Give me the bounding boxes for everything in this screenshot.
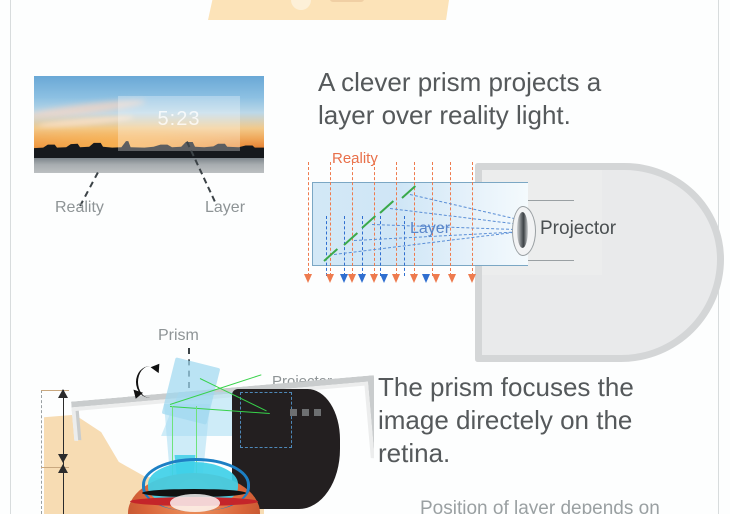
reality-ray xyxy=(432,162,433,276)
projector-bracket-top xyxy=(528,200,574,201)
reality-arrow xyxy=(448,274,456,283)
layer-label: Layer xyxy=(410,220,450,238)
layer-arrow xyxy=(380,274,388,283)
eye-lens xyxy=(170,494,220,512)
reality-arrow xyxy=(304,274,312,283)
caption-reality: Reality xyxy=(55,199,104,217)
reality-arrow xyxy=(432,274,440,283)
measure-baseline xyxy=(41,390,42,514)
skyline-photo: 5:23 xyxy=(34,76,264,173)
reality-arrow xyxy=(326,274,334,283)
banner-chip-icon xyxy=(330,0,364,2)
headline-secondary: The prism focuses the image directely on… xyxy=(378,371,708,470)
caption-layer: Layer xyxy=(205,199,245,217)
reality-arrow xyxy=(370,274,378,283)
reality-ray xyxy=(450,162,451,276)
reality-label: Reality xyxy=(332,150,378,167)
reality-ray xyxy=(414,162,415,276)
layer-arrow xyxy=(358,274,366,283)
infographic-page: 5:23 Reality Layer A clever prism projec… xyxy=(0,0,730,514)
measure-arrow-up xyxy=(58,389,68,398)
measure-arrow-up-2 xyxy=(58,464,68,473)
measure-arrow-down xyxy=(58,454,68,463)
reality-arrow xyxy=(468,274,476,283)
left-border-rule xyxy=(10,0,11,514)
reality-ray xyxy=(396,162,397,276)
reality-arrow xyxy=(392,274,400,283)
water-band xyxy=(34,158,264,173)
projector-aperture-icon xyxy=(517,212,528,248)
layer-ray xyxy=(326,216,327,276)
reality-ray xyxy=(374,162,375,276)
reality-arrow xyxy=(410,274,418,283)
reality-ray xyxy=(330,162,331,276)
top-tan-banner xyxy=(208,0,456,20)
reality-ray xyxy=(352,162,353,276)
ar-layer-clock: 5:23 xyxy=(118,108,240,131)
layer-arrow xyxy=(340,274,348,283)
layer-arrow xyxy=(422,274,430,283)
projector-chips-icon xyxy=(290,409,326,416)
headline-primary: A clever prism projects a layer over rea… xyxy=(318,66,648,132)
eye-cross-section xyxy=(14,330,374,514)
projector-bracket-bottom xyxy=(528,260,574,261)
cut-off-subtext: Position of layer depends on xyxy=(420,498,720,514)
measure-line xyxy=(63,390,64,514)
projector-label: Projector xyxy=(540,218,616,240)
prism-projector-schematic: Reality Layer xyxy=(300,150,720,320)
reality-ray xyxy=(308,162,309,276)
reality-arrow xyxy=(348,274,356,283)
